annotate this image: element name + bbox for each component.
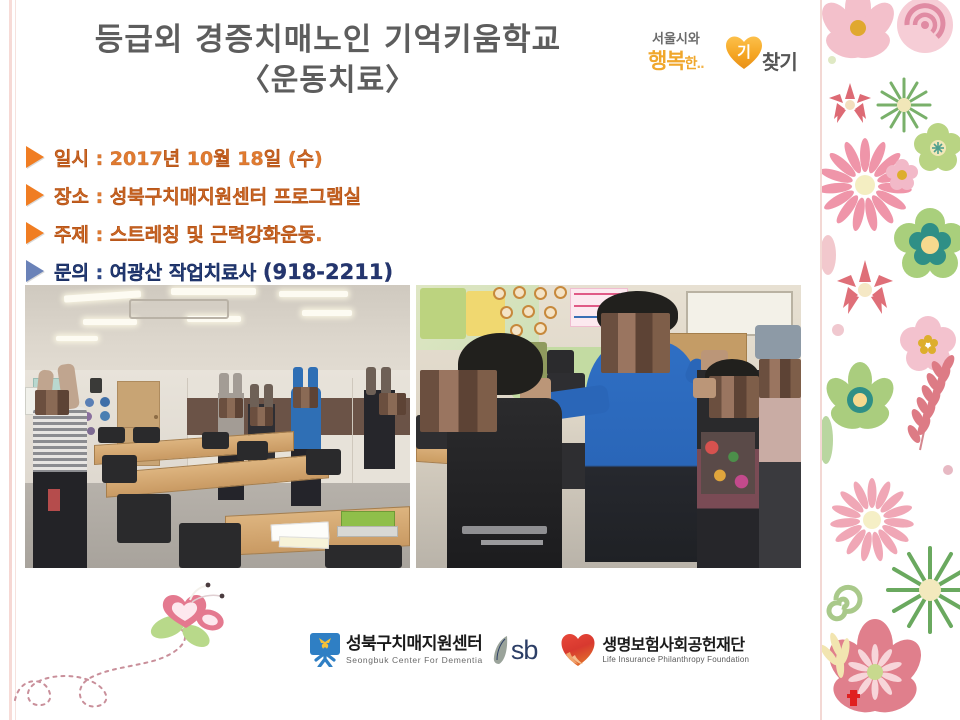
- photo1-wall-decoration: [100, 411, 110, 421]
- photo1-wall-decoration: [85, 398, 94, 407]
- photo1-ceiling-lamp: [279, 291, 348, 297]
- butterfly-antenna-tip: [220, 594, 225, 599]
- photo1-participant-arm: [264, 384, 273, 409]
- logo-main-word: 행복: [648, 49, 685, 73]
- happy-finding-logo: 서울시와 행복한.. 기 찾기: [648, 28, 798, 86]
- bullet-text-topic: 주제 : 스트레칭 및 근력강화운동.: [54, 220, 323, 247]
- bullet-item-place: 장소 : 성북구치매지원센터 프로그램실: [26, 176, 726, 214]
- logo-han-text: 한: [685, 56, 697, 72]
- photo2-jacket-on-sofa: [547, 350, 574, 375]
- photo2-floral-pattern-top: [701, 432, 755, 494]
- triangle-bullet-icon: [26, 184, 44, 206]
- photo2-pixelated-face: [601, 313, 670, 372]
- page-title: 등급외 경증치매노인 기억키움학교 〈운동치료〉: [18, 22, 638, 98]
- triangle-bullet-icon: [26, 146, 44, 168]
- photo1-participant-arm: [250, 384, 259, 409]
- floral-border-edge: [820, 0, 822, 720]
- contact-phone: (918-2211): [263, 260, 393, 284]
- life-korean-name: 생명보험사회공헌재단: [602, 637, 749, 653]
- contact-name: 문의 : 여광산 작업치료사: [54, 262, 256, 284]
- floral-border-decoration: [820, 0, 960, 720]
- heart-hands-icon: [561, 633, 595, 667]
- photo1-participant-arm: [381, 367, 391, 395]
- photo1-chair: [202, 432, 229, 449]
- photo1-chair: [306, 449, 341, 474]
- photo2-pixelated-face: [420, 370, 497, 432]
- photo1-ceiling-lamp: [83, 319, 137, 325]
- seongbuk-logo-text: 성북구치매지원센터 Seongbuk Center For Dementia: [346, 636, 483, 665]
- presentation-slide: 등급외 경증치매노인 기억키움학교 〈운동치료〉 서울시와 행복한.. 기 찾기…: [0, 0, 960, 720]
- photo1-ceiling-lamp: [302, 310, 352, 316]
- photo1-partition-seam: [352, 378, 353, 488]
- photo1-pixelated-face: [379, 393, 406, 416]
- photo1-chair: [179, 523, 241, 568]
- photo1-participant-arm: [233, 373, 242, 398]
- photo2-instructor-body: [585, 342, 701, 563]
- bullet-text-contact: 문의 : 여광산 작업치료사 (918-2211): [54, 258, 393, 285]
- sb-logo: sb: [493, 635, 538, 665]
- life-logo-text: 생명보험사회공헌재단 Life Insurance Philanthropy F…: [602, 637, 749, 664]
- footer-sponsor-logos: 성북구치매지원센터 Seongbuk Center For Dementia s…: [310, 622, 749, 678]
- dotted-trail: [15, 630, 185, 706]
- photo1-foreground-participant-torso: [33, 407, 87, 481]
- photo1-pixelated-face: [35, 390, 70, 415]
- photo1-pixelated-face: [293, 387, 318, 408]
- photo1-ceiling-frame: [129, 299, 229, 319]
- title-line-secondary: 〈운동치료〉: [18, 63, 638, 98]
- bullet-text-date: 일시 : 2017년 10월 18일 (수): [54, 144, 323, 171]
- butterfly-antenna-tip: [206, 583, 211, 588]
- triangle-bullet-icon: [26, 222, 44, 244]
- photo1-wall-decoration: [100, 397, 110, 407]
- photo2-pixelated-face: [709, 376, 759, 418]
- photo2-pixelated-face: [759, 359, 801, 399]
- title-line-primary: 등급외 경증치매노인 기억키움학교: [18, 22, 638, 59]
- triangle-bullet-icon-blue: [26, 260, 44, 282]
- photo1-chair: [133, 427, 160, 444]
- butterfly-decoration: [10, 580, 330, 710]
- seongbuk-mark-icon: [310, 633, 340, 667]
- photo1-bag: [48, 489, 60, 512]
- life-english-name: Life Insurance Philanthropy Foundation: [602, 656, 749, 664]
- logo-dots: ..: [697, 57, 704, 71]
- photo1-chair: [98, 427, 125, 444]
- seongbuk-center-logo: 성북구치매지원센터 Seongbuk Center For Dementia: [310, 633, 483, 667]
- photo1-tray: [337, 526, 399, 537]
- svg-text:기: 기: [737, 43, 751, 61]
- sb-wordmark: sb: [511, 637, 538, 664]
- photo-group-stretching: [25, 285, 410, 568]
- info-bullet-list: 일시 : 2017년 10월 18일 (수) 장소 : 성북구치매지원센터 프로…: [26, 138, 726, 290]
- logo-main-text: 행복한..: [648, 45, 704, 75]
- photo2-participant-hand: [693, 378, 716, 398]
- photo1-chair: [325, 545, 402, 568]
- bullet-item-topic: 주제 : 스트레칭 및 근력강화운동.: [26, 214, 726, 252]
- photo1-ceiling-lamp: [56, 336, 98, 341]
- heart-icon: 기: [726, 36, 762, 70]
- bullet-text-place: 장소 : 성북구치매지원센터 프로그램실: [54, 182, 361, 209]
- feather-icon: [493, 635, 509, 665]
- photo2-participant-shoulder: [755, 325, 801, 359]
- photo-gallery: [25, 285, 805, 568]
- photo1-chair: [102, 455, 137, 483]
- photo2-tree-artwork: [420, 288, 466, 339]
- photo2-coat-logo: [462, 526, 547, 534]
- photo1-participant-arm: [366, 367, 376, 395]
- photo1-participant-arm: [219, 373, 228, 398]
- photo1-chair: [117, 494, 171, 542]
- photo1-speaker: [90, 378, 102, 393]
- seongbuk-english-name: Seongbuk Center For Dementia: [346, 656, 483, 665]
- photo-instructor-assisting: [416, 285, 801, 568]
- logo-trailing-text: 찾기: [762, 46, 797, 75]
- photo2-coat-text: [481, 540, 543, 546]
- life-insurance-foundation-logo: 생명보험사회공헌재단 Life Insurance Philanthropy F…: [561, 633, 749, 667]
- photo1-wall-decoration: [87, 427, 95, 435]
- photo1-pixelated-face: [250, 407, 273, 427]
- photo1-chair: [237, 441, 268, 461]
- flower-cluster: [820, 0, 960, 719]
- photo1-ceiling-lamp: [171, 288, 256, 295]
- photo1-papers: [279, 536, 329, 549]
- bullet-item-date: 일시 : 2017년 10월 18일 (수): [26, 138, 726, 176]
- photo1-foreground-participant-legs: [33, 472, 87, 568]
- photo1-pixelated-face: [219, 398, 242, 418]
- seongbuk-korean-name: 성북구치매지원센터: [346, 636, 483, 653]
- floral-pattern: [820, 0, 960, 720]
